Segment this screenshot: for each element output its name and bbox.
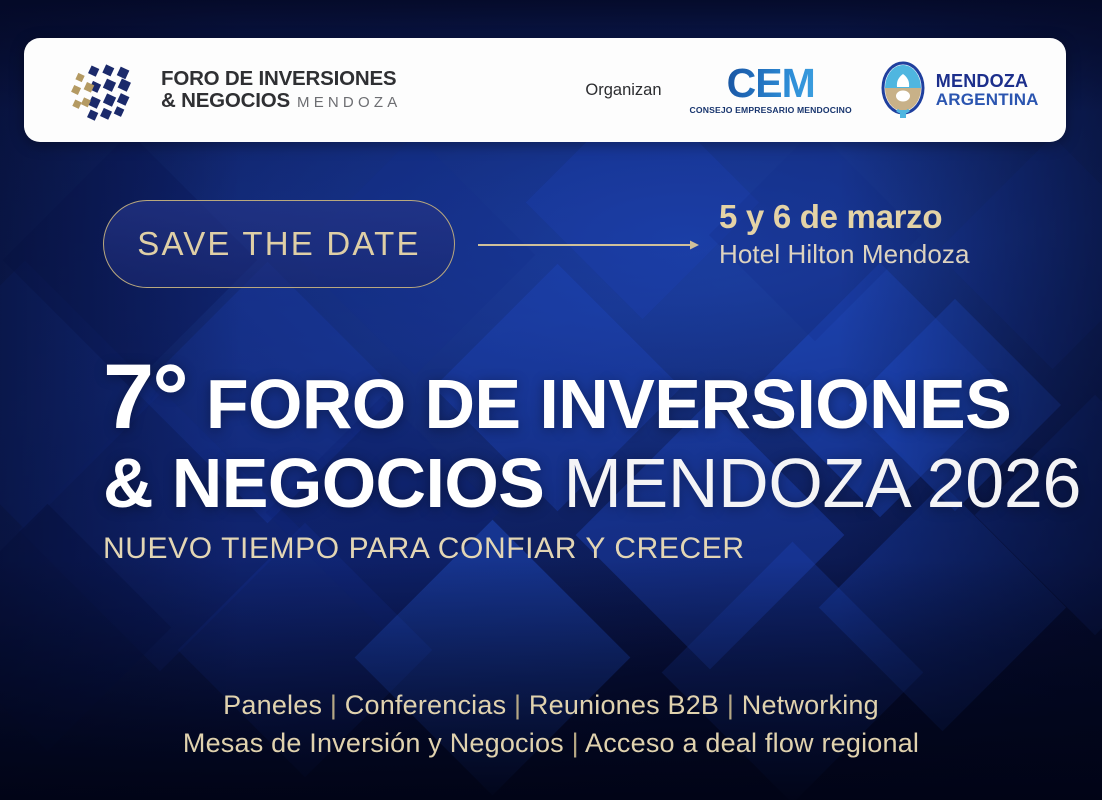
feature-item: Reuniones B2B [529, 690, 719, 720]
separator: | [514, 690, 521, 720]
headline-line-2-light: MENDOZA 2026 [563, 444, 1081, 522]
headline-line-2-bold: & NEGOCIOS [103, 444, 544, 522]
features-line-2: Mesas de Inversión y Negocios | Acceso a… [0, 724, 1102, 762]
feature-item: Conferencias [345, 690, 507, 720]
save-the-date-row: SAVE THE DATE 5 y 6 de marzo Hotel Hilto… [0, 196, 1102, 292]
cem-logo: CEM CONSEJO EMPRESARIO MENDOCINO [690, 65, 852, 115]
event-date: 5 y 6 de marzo [719, 196, 970, 237]
brand-line-1: FORO DE INVERSIONES [161, 68, 401, 90]
brand-line-2-light: MENDOZA [297, 95, 401, 111]
headline-block: 7° FORO DE INVERSIONES & NEGOCIOS MENDOZ… [103, 352, 1033, 566]
separator: | [727, 690, 734, 720]
feature-item: Networking [742, 690, 879, 720]
save-the-date-badge: SAVE THE DATE [103, 200, 455, 288]
feature-item: Mesas de Inversión y Negocios [183, 728, 564, 758]
brand-line-2-bold: & NEGOCIOS [161, 90, 290, 112]
mendoza-wordmark: MENDOZA ARGENTINA [936, 72, 1039, 108]
event-date-block: 5 y 6 de marzo Hotel Hilton Mendoza [719, 196, 970, 272]
feature-item: Paneles [223, 690, 322, 720]
features-line-1: Paneles | Conferencias | Reuniones B2B |… [0, 686, 1102, 724]
separator: | [572, 728, 579, 758]
brand-text: FORO DE INVERSIONES & NEGOCIOS MENDOZA [161, 68, 401, 111]
cem-wordmark: CEM [690, 65, 852, 103]
headline-tagline: NUEVO TIEMPO PARA CONFIAR Y CRECER [103, 532, 1033, 566]
mendoza-shield-icon [880, 60, 926, 120]
save-the-date-label: SAVE THE DATE [137, 225, 421, 263]
separator: | [330, 690, 337, 720]
edition-number: 7° [103, 346, 187, 448]
arrow-right-icon [478, 238, 700, 250]
header-card: FORO DE INVERSIONES & NEGOCIOS MENDOZA O… [24, 38, 1066, 142]
features-block: Paneles | Conferencias | Reuniones B2B |… [0, 686, 1102, 763]
event-venue: Hotel Hilton Mendoza [719, 238, 970, 272]
cem-subtitle: CONSEJO EMPRESARIO MENDOCINO [690, 105, 852, 115]
headline-line-1: FORO DE INVERSIONES [206, 365, 1011, 443]
organizers-label: Organizan [585, 81, 661, 100]
feature-item: Acceso a deal flow regional [585, 728, 919, 758]
brand-lockup: FORO DE INVERSIONES & NEGOCIOS MENDOZA [67, 59, 401, 121]
organizers-group: Organizan CEM CONSEJO EMPRESARIO MENDOCI… [585, 60, 1038, 120]
mendoza-logo: MENDOZA ARGENTINA [880, 60, 1039, 120]
mendoza-line-2: ARGENTINA [936, 91, 1039, 108]
globe-diamond-logo [67, 59, 149, 121]
mendoza-line-1: MENDOZA [936, 72, 1039, 90]
